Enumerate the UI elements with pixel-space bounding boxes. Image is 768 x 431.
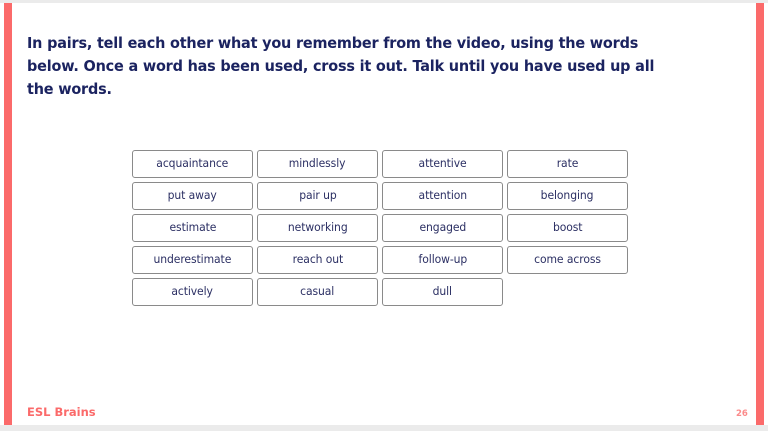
word-box[interactable]: pair up bbox=[257, 182, 378, 210]
word-box-label: rate bbox=[557, 158, 579, 170]
word-box[interactable]: acquaintance bbox=[132, 150, 253, 178]
word-box-label: attentive bbox=[418, 158, 466, 170]
word-box[interactable]: belonging bbox=[507, 182, 628, 210]
word-box[interactable]: dull bbox=[382, 278, 503, 306]
slide-canvas: In pairs, tell each other what you remem… bbox=[0, 3, 768, 425]
word-box-label: estimate bbox=[169, 222, 216, 234]
word-box[interactable]: networking bbox=[257, 214, 378, 242]
word-box-placeholder bbox=[507, 278, 628, 306]
word-box[interactable]: put away bbox=[132, 182, 253, 210]
word-box-label: underestimate bbox=[154, 254, 232, 266]
word-box-label: reach out bbox=[292, 254, 343, 266]
word-box[interactable]: mindlessly bbox=[257, 150, 378, 178]
word-box-label: come across bbox=[534, 254, 601, 266]
word-box[interactable]: reach out bbox=[257, 246, 378, 274]
word-box-label: attention bbox=[418, 190, 466, 202]
word-box[interactable]: attention bbox=[382, 182, 503, 210]
word-box[interactable]: come across bbox=[507, 246, 628, 274]
word-box[interactable]: boost bbox=[507, 214, 628, 242]
page-number: 26 bbox=[736, 409, 748, 419]
word-grid: acquaintancemindlesslyattentiverateput a… bbox=[132, 150, 628, 306]
word-box-label: pair up bbox=[299, 190, 336, 202]
word-box-label: acquaintance bbox=[157, 158, 229, 170]
word-box[interactable]: rate bbox=[507, 150, 628, 178]
word-box-label: actively bbox=[172, 286, 214, 298]
word-box-label: networking bbox=[288, 222, 348, 234]
word-box[interactable]: follow-up bbox=[382, 246, 503, 274]
word-box[interactable]: actively bbox=[132, 278, 253, 306]
word-box-label: boost bbox=[553, 222, 582, 234]
word-box-label: mindlessly bbox=[289, 158, 346, 170]
instruction-text: In pairs, tell each other what you remem… bbox=[27, 32, 669, 101]
word-box-label: casual bbox=[300, 286, 334, 298]
word-box-label: follow-up bbox=[418, 254, 467, 266]
word-box[interactable]: attentive bbox=[382, 150, 503, 178]
accent-bar-right bbox=[756, 3, 764, 425]
accent-bar-left bbox=[4, 3, 12, 425]
word-box[interactable]: underestimate bbox=[132, 246, 253, 274]
word-box[interactable]: casual bbox=[257, 278, 378, 306]
word-box-label: dull bbox=[433, 286, 452, 298]
brand-logo: ESL Brains bbox=[27, 405, 96, 419]
word-box-label: belonging bbox=[541, 190, 594, 202]
word-box[interactable]: engaged bbox=[382, 214, 503, 242]
word-box[interactable]: estimate bbox=[132, 214, 253, 242]
word-box-label: put away bbox=[168, 190, 217, 202]
word-box-label: engaged bbox=[419, 222, 466, 234]
